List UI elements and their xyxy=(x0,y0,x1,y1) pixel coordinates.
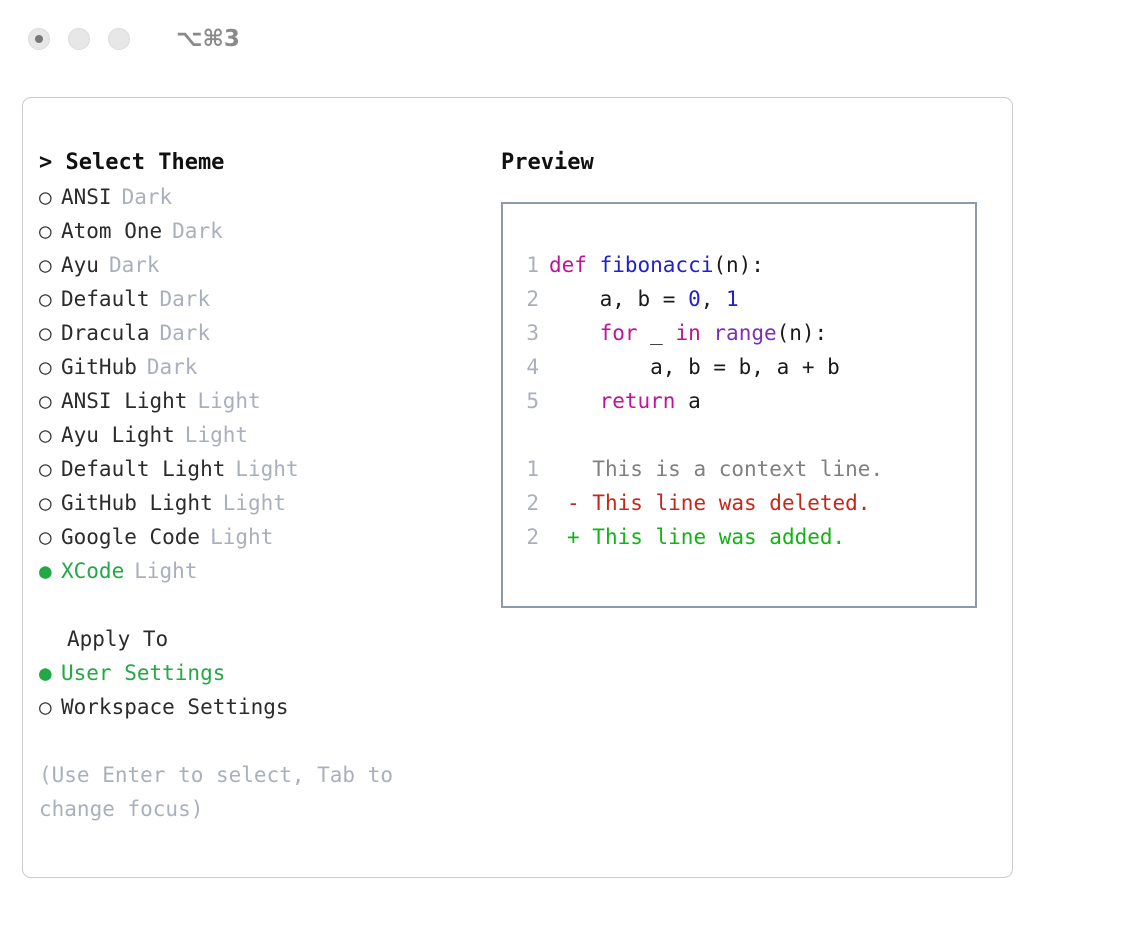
apply-to-option-label: User Settings xyxy=(61,656,225,690)
theme-item-label: Ayu xyxy=(61,248,99,282)
theme-selector-panel: > Select Theme ○ANSIDark○Atom OneDark○Ay… xyxy=(22,97,1013,878)
radio-unselected-icon[interactable]: ○ xyxy=(39,690,61,724)
theme-list-item[interactable]: ○DraculaDark xyxy=(39,316,489,350)
theme-item-variant-badge: Light xyxy=(235,452,298,486)
code-line-number: 2 xyxy=(503,282,549,316)
code-line-number: 4 xyxy=(503,350,549,384)
code-line-number: 1 xyxy=(503,248,549,282)
diff-line: 1 This is a context line. xyxy=(503,452,975,486)
theme-list-column: > Select Theme ○ANSIDark○Atom OneDark○Ay… xyxy=(39,146,489,826)
theme-item-variant-badge: Dark xyxy=(122,180,173,214)
code-line-content: a, b = b, a + b xyxy=(549,350,840,384)
theme-list-item[interactable]: ●XCodeLight xyxy=(39,554,489,588)
radio-unselected-icon[interactable]: ○ xyxy=(39,282,61,316)
theme-list-item[interactable]: ○GitHub LightLight xyxy=(39,486,489,520)
window-dot-active-button[interactable] xyxy=(28,28,50,50)
theme-list-item[interactable]: ○ANSIDark xyxy=(39,180,489,214)
theme-list-item[interactable]: ○Google CodeLight xyxy=(39,520,489,554)
code-line: 4 a, b = b, a + b xyxy=(503,350,975,384)
radio-unselected-icon[interactable]: ○ xyxy=(39,486,61,520)
code-token-name: fibonacci xyxy=(600,253,714,277)
theme-item-label: Google Code xyxy=(61,520,200,554)
theme-item-variant-badge: Light xyxy=(197,384,260,418)
code-line-number: 5 xyxy=(503,384,549,418)
radio-unselected-icon[interactable]: ○ xyxy=(39,350,61,384)
preview-box: 1def fibonacci(n):2 a, b = 0, 13 for _ i… xyxy=(501,202,977,608)
theme-item-label: ANSI xyxy=(61,180,112,214)
code-sample: 1def fibonacci(n):2 a, b = 0, 13 for _ i… xyxy=(503,248,975,418)
radio-selected-icon[interactable]: ● xyxy=(39,656,61,690)
radio-unselected-icon[interactable]: ○ xyxy=(39,452,61,486)
apply-to-option[interactable]: ●User Settings xyxy=(39,656,489,690)
theme-item-variant-badge: Dark xyxy=(147,350,198,384)
window-dot-3-button[interactable] xyxy=(108,28,130,50)
diff-marker xyxy=(549,452,580,486)
theme-item-variant-badge: Dark xyxy=(172,214,223,248)
theme-item-variant-badge: Light xyxy=(223,486,286,520)
window-dot-active-indicator xyxy=(35,35,43,43)
code-token-plain: a, b = xyxy=(549,287,688,311)
preview-title: Preview xyxy=(501,146,1001,180)
code-token-plain xyxy=(701,321,714,345)
theme-list-item[interactable]: ○GitHubDark xyxy=(39,350,489,384)
radio-unselected-icon[interactable]: ○ xyxy=(39,520,61,554)
theme-list-item[interactable]: ○AyuDark xyxy=(39,248,489,282)
list-spacer xyxy=(39,588,489,622)
theme-item-label: XCode xyxy=(61,554,124,588)
code-token-plain: (n): xyxy=(713,253,764,277)
diff-line-text: This line was deleted. xyxy=(580,486,871,520)
radio-unselected-icon[interactable]: ○ xyxy=(39,316,61,350)
diff-marker: + xyxy=(549,520,580,554)
keyboard-hint-text: (Use Enter to select, Tab to change focu… xyxy=(39,758,439,826)
diff-line-text: This is a context line. xyxy=(580,452,883,486)
apply-to-header: Apply To xyxy=(39,622,489,656)
theme-item-label: Default Light xyxy=(61,452,225,486)
diff-sample: 1 This is a context line.2- This line wa… xyxy=(503,452,975,554)
code-token-kw: def xyxy=(549,253,600,277)
code-token-fn: range xyxy=(713,321,776,345)
window-titlebar: ⌥⌘3 xyxy=(0,0,1140,78)
code-token-plain xyxy=(549,389,600,413)
code-line-content: def fibonacci(n): xyxy=(549,248,764,282)
diff-line-number: 2 xyxy=(503,520,549,554)
code-token-plain: , xyxy=(701,287,726,311)
theme-item-variant-badge: Dark xyxy=(160,316,211,350)
code-token-kw: return xyxy=(600,389,676,413)
theme-list-item[interactable]: ○Atom OneDark xyxy=(39,214,489,248)
code-line-number: 3 xyxy=(503,316,549,350)
code-token-kw: for xyxy=(600,321,638,345)
window-dot-2-button[interactable] xyxy=(68,28,90,50)
apply-to-option-label: Workspace Settings xyxy=(61,690,289,724)
theme-item-variant-badge: Light xyxy=(210,520,273,554)
radio-unselected-icon[interactable]: ○ xyxy=(39,248,61,282)
keyboard-shortcut-label: ⌥⌘3 xyxy=(176,26,240,52)
theme-item-label: Ayu Light xyxy=(61,418,175,452)
diff-line-number: 2 xyxy=(503,486,549,520)
theme-item-label: Default xyxy=(61,282,150,316)
code-line: 5 return a xyxy=(503,384,975,418)
diff-marker: - xyxy=(549,486,580,520)
code-token-plain: (n): xyxy=(777,321,828,345)
radio-unselected-icon[interactable]: ○ xyxy=(39,214,61,248)
theme-item-variant-badge: Light xyxy=(134,554,197,588)
apply-to-option[interactable]: ○Workspace Settings xyxy=(39,690,489,724)
code-token-plain: a, b = b, a + b xyxy=(549,355,840,379)
diff-line: 2+ This line was added. xyxy=(503,520,975,554)
code-token-plain: a xyxy=(675,389,700,413)
theme-list-item[interactable]: ○Ayu LightLight xyxy=(39,418,489,452)
apply-to-option-list: ●User Settings○Workspace Settings xyxy=(39,656,489,724)
theme-list-item[interactable]: ○DefaultDark xyxy=(39,282,489,316)
theme-list: ○ANSIDark○Atom OneDark○AyuDark○DefaultDa… xyxy=(39,180,489,588)
code-line: 1def fibonacci(n): xyxy=(503,248,975,282)
code-token-kw: in xyxy=(675,321,700,345)
code-token-num: 0 xyxy=(688,287,701,311)
code-token-plain: _ xyxy=(638,321,676,345)
theme-item-label: GitHub Light xyxy=(61,486,213,520)
code-line: 2 a, b = 0, 1 xyxy=(503,282,975,316)
code-token-num: 1 xyxy=(726,287,739,311)
theme-item-label: Atom One xyxy=(61,214,162,248)
diff-line-text: This line was added. xyxy=(580,520,846,554)
theme-list-item[interactable]: ○ANSI LightLight xyxy=(39,384,489,418)
code-diff-separator xyxy=(503,418,975,452)
theme-item-variant-badge: Dark xyxy=(160,282,211,316)
theme-item-label: ANSI Light xyxy=(61,384,187,418)
select-theme-header: > Select Theme xyxy=(39,146,489,180)
theme-item-variant-badge: Dark xyxy=(109,248,160,282)
code-line-content: return a xyxy=(549,384,701,418)
radio-unselected-icon[interactable]: ○ xyxy=(39,180,61,214)
diff-line-number: 1 xyxy=(503,452,549,486)
theme-list-item[interactable]: ○Default LightLight xyxy=(39,452,489,486)
code-token-plain xyxy=(549,321,600,345)
code-line-content: for _ in range(n): xyxy=(549,316,827,350)
code-line: 3 for _ in range(n): xyxy=(503,316,975,350)
theme-item-variant-badge: Light xyxy=(185,418,248,452)
diff-line: 2- This line was deleted. xyxy=(503,486,975,520)
radio-unselected-icon[interactable]: ○ xyxy=(39,384,61,418)
theme-item-label: GitHub xyxy=(61,350,137,384)
code-line-content: a, b = 0, 1 xyxy=(549,282,739,316)
radio-unselected-icon[interactable]: ○ xyxy=(39,418,61,452)
radio-selected-icon[interactable]: ● xyxy=(39,554,61,588)
preview-column: Preview 1def fibonacci(n):2 a, b = 0, 13… xyxy=(501,146,1001,608)
theme-item-label: Dracula xyxy=(61,316,150,350)
